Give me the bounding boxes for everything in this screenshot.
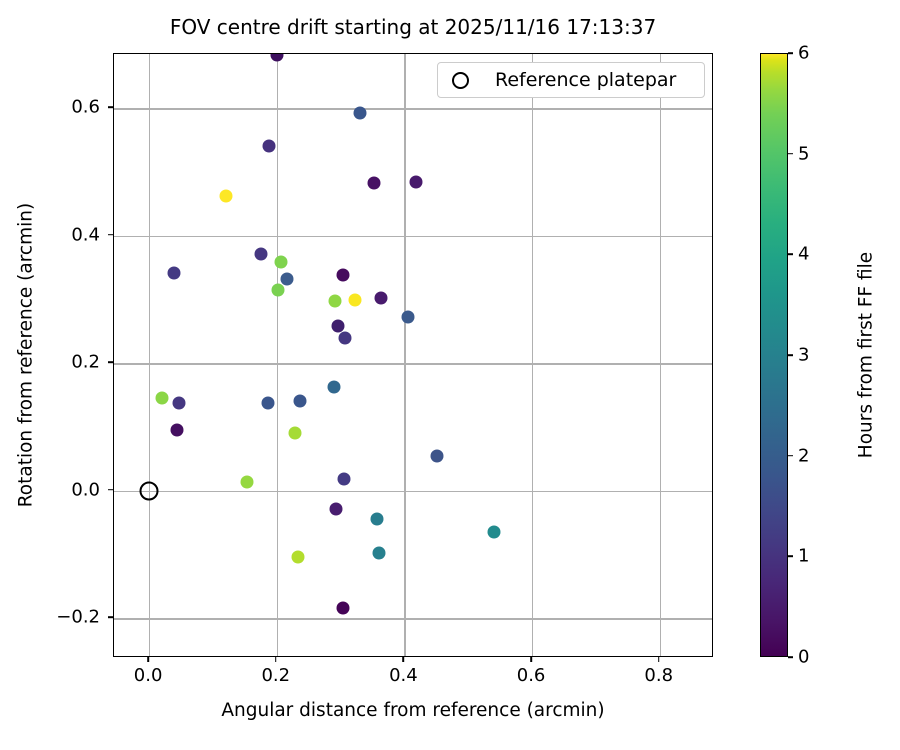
colorbar-tick (788, 656, 793, 658)
scatter-point (219, 190, 232, 203)
reference-platepar-marker-icon (452, 72, 469, 89)
scatter-point (275, 255, 288, 268)
x-axis-tick (403, 657, 405, 662)
colorbar-gradient (760, 53, 788, 657)
scatter-point (337, 473, 350, 486)
scatter-point (294, 394, 307, 407)
plot-area (113, 53, 713, 657)
scatter-point (263, 140, 276, 153)
x-axis-tick (147, 657, 149, 662)
scatter-point (270, 53, 283, 62)
figure-canvas: FOV centre drift starting at 2025/11/16 … (0, 0, 900, 750)
y-axis-tick-label: 0.6 (71, 97, 100, 118)
y-axis-tick (108, 106, 113, 108)
gridline-vertical (404, 54, 405, 656)
x-axis-tick (275, 657, 277, 662)
colorbar-tick (788, 52, 793, 54)
gridline-horizontal (114, 618, 712, 619)
gridline-vertical (532, 54, 533, 656)
scatter-point (339, 331, 352, 344)
y-axis-tick-label: 0.2 (71, 352, 100, 373)
x-axis-tick (530, 657, 532, 662)
colorbar-tick-label: 1 (798, 546, 809, 567)
colorbar-tick (788, 153, 793, 155)
colorbar-tick-label: 3 (798, 345, 809, 366)
y-axis-tick (108, 617, 113, 619)
colorbar-tick-label: 4 (798, 244, 809, 265)
y-axis-tick (108, 489, 113, 491)
gridline-vertical (277, 54, 278, 656)
x-axis-label: Angular distance from reference (arcmin) (113, 700, 713, 721)
scatter-point (487, 526, 500, 539)
colorbar-tick-label: 0 (798, 647, 809, 668)
scatter-point (330, 502, 343, 515)
scatter-point (261, 396, 274, 409)
scatter-point (291, 551, 304, 564)
x-axis-tick-label: 0.2 (261, 665, 290, 686)
scatter-point (289, 427, 302, 440)
scatter-point (328, 294, 341, 307)
scatter-point (372, 546, 385, 559)
colorbar-tick (788, 354, 793, 356)
legend: Reference platepar (437, 62, 705, 98)
scatter-point (336, 602, 349, 615)
y-axis-tick-label: −0.2 (56, 607, 100, 628)
gridline-horizontal (114, 491, 712, 492)
scatter-point (280, 273, 293, 286)
scatter-point (370, 512, 383, 525)
y-axis-tick-label: 0.0 (71, 479, 100, 500)
y-axis-tick (108, 362, 113, 364)
scatter-point (353, 106, 366, 119)
colorbar-tick-label: 5 (798, 143, 809, 164)
colorbar-tick (788, 556, 793, 558)
scatter-point (170, 423, 183, 436)
scatter-point (173, 396, 186, 409)
scatter-point (430, 449, 443, 462)
y-axis-tick (108, 234, 113, 236)
scatter-point (168, 267, 181, 280)
scatter-point (402, 311, 415, 324)
x-axis-tick (658, 657, 660, 662)
x-axis-tick-label: 0.6 (517, 665, 546, 686)
scatter-point (155, 392, 168, 405)
gridline-horizontal (114, 236, 712, 237)
scatter-point (367, 176, 380, 189)
gridline-vertical (660, 54, 661, 656)
page-title: FOV centre drift starting at 2025/11/16 … (113, 14, 713, 40)
colorbar-tick (788, 254, 793, 256)
scatter-point (409, 176, 422, 189)
scatter-point (240, 475, 253, 488)
x-axis-tick-label: 0.0 (134, 665, 163, 686)
colorbar-tick-label: 6 (798, 43, 809, 64)
gridline-horizontal (114, 363, 712, 364)
y-axis-tick-label: 0.4 (71, 224, 100, 245)
reference-platepar-point (140, 481, 159, 500)
gridline-vertical (149, 54, 150, 656)
y-axis-label: Rotation from reference (arcmin) (16, 203, 37, 507)
colorbar-tick-label: 2 (798, 445, 809, 466)
colorbar-label: Hours from first FF file (856, 252, 877, 458)
x-axis-tick-label: 0.4 (389, 665, 418, 686)
gridline-horizontal (114, 108, 712, 109)
scatter-point (255, 248, 268, 261)
colorbar: 0123456 (760, 53, 788, 657)
scatter-point (375, 292, 388, 305)
colorbar-tick (788, 455, 793, 457)
x-axis-tick-label: 0.8 (644, 665, 673, 686)
scatter-point (349, 293, 362, 306)
scatter-point (328, 380, 341, 393)
legend-item-label: Reference platepar (495, 69, 676, 91)
scatter-point (272, 283, 285, 296)
scatter-point (336, 268, 349, 281)
